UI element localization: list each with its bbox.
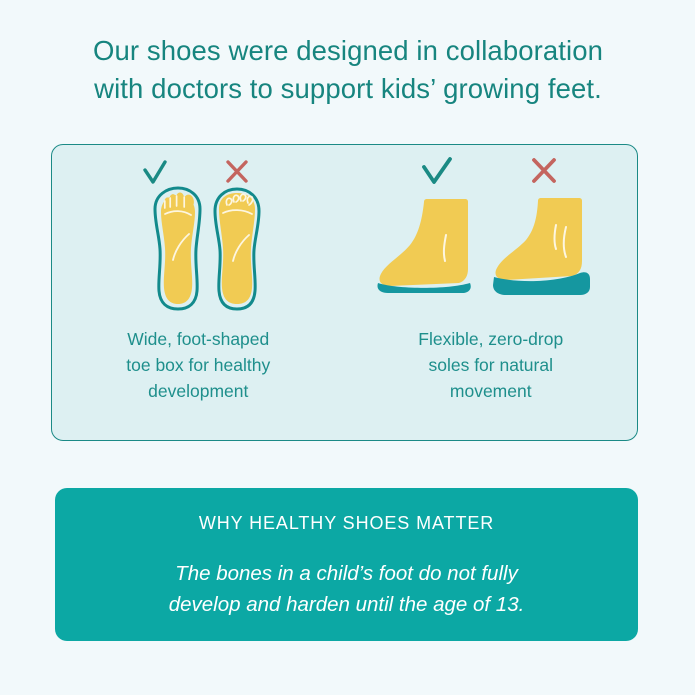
page-title-line-2: with doctors to support kids’ growing fe… (48, 70, 648, 108)
why-healthy-shoes-banner: WHY HEALTHY SHOES MATTER The bones in a … (55, 488, 638, 641)
feature-caption-soles: Flexible, zero-drop soles for natural mo… (376, 327, 606, 405)
footprint-narrow (215, 189, 259, 309)
page-title-line-1: Our shoes were designed in collaboration (48, 32, 648, 70)
caption-line-3: movement (376, 379, 606, 405)
feature-card: Wide, foot-shaped toe box for healthy de… (51, 144, 638, 441)
banner-body-line-1: The bones in a child’s foot do not fully (112, 559, 582, 590)
infographic-page: Our shoes were designed in collaboration… (0, 0, 695, 695)
cross-icon-soles (534, 160, 554, 181)
feature-panes: Wide, foot-shaped toe box for healthy de… (52, 145, 637, 440)
banner-title: WHY HEALTHY SHOES MATTER (199, 513, 494, 534)
check-icon-soles (424, 159, 450, 182)
footprints-illustration (52, 145, 345, 317)
footprint-wide (155, 188, 200, 309)
banner-body-line-2: develop and harden until the age of 13. (112, 590, 582, 621)
boot-raised-heel (493, 198, 590, 295)
feature-pane-soles: Flexible, zero-drop soles for natural mo… (345, 145, 638, 440)
check-icon-toe-box (145, 162, 165, 182)
feature-pane-toe-box: Wide, foot-shaped toe box for healthy de… (52, 145, 345, 440)
caption-line-1: Wide, foot-shaped (83, 327, 313, 353)
caption-line-3: development (83, 379, 313, 405)
banner-body: The bones in a child’s foot do not fully… (112, 559, 582, 621)
cross-icon-toe-box (228, 162, 246, 181)
caption-line-1: Flexible, zero-drop (376, 327, 606, 353)
caption-line-2: toe box for healthy (83, 353, 313, 379)
boots-illustration (345, 145, 638, 317)
boot-flat-sole (377, 199, 470, 293)
caption-line-2: soles for natural (376, 353, 606, 379)
feature-caption-toe-box: Wide, foot-shaped toe box for healthy de… (83, 327, 313, 405)
page-title: Our shoes were designed in collaboration… (48, 32, 648, 108)
